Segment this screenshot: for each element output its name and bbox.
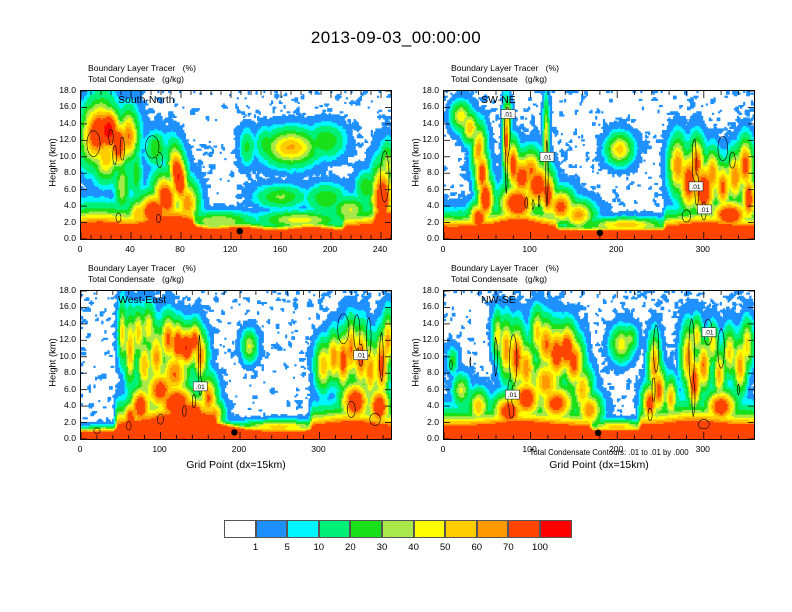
contour-label: .01 <box>702 328 716 337</box>
header-tracer-line: Boundary Layer Tracer (%) <box>451 263 559 274</box>
y-tick-label: 0.0 <box>47 233 76 243</box>
station-marker <box>237 228 243 234</box>
x-tick-label: 100 <box>139 444 179 454</box>
y-tick-label: 2.0 <box>410 417 439 427</box>
x-tick-label: 200 <box>596 244 636 254</box>
contour-label: .01 <box>193 382 207 391</box>
y-axis-title: Height (km) <box>47 113 58 213</box>
colorbar-swatch <box>540 520 572 538</box>
colorbar-swatch <box>414 520 446 538</box>
panel-label-nw-se: NW-SE <box>481 294 516 306</box>
y-tick-label: 2.0 <box>47 417 76 427</box>
header-condensate-line: Total Condensate (g/kg) <box>451 74 559 85</box>
plot-area-nw-se[interactable]: .01.01 <box>443 290 755 440</box>
colorbar-swatch <box>350 520 382 538</box>
contour-label: .01 <box>698 205 712 214</box>
station-marker <box>231 429 237 435</box>
x-tick-label: 300 <box>298 444 338 454</box>
y-tick-label: 16.0 <box>410 101 439 111</box>
colorbar: 1510203040506070100 <box>224 520 572 560</box>
contour-label: .01 <box>354 351 368 360</box>
y-tick-label: 18.0 <box>47 285 76 295</box>
x-tick-label: 0 <box>423 244 463 254</box>
y-tick-label: 0.0 <box>410 433 439 443</box>
x-axis-title: Grid Point (dx=15km) <box>80 459 392 471</box>
y-tick-label: 16.0 <box>410 301 439 311</box>
colorbar-swatch <box>508 520 540 538</box>
colorbar-swatch <box>319 520 351 538</box>
contour-field: .01.01 <box>444 291 754 439</box>
x-tick-label: 240 <box>360 244 400 254</box>
y-tick-label: 2.0 <box>47 217 76 227</box>
station-marker <box>595 430 601 436</box>
contour-label: .01 <box>689 182 703 191</box>
colorbar-tick-label: 100 <box>520 542 560 553</box>
plot-area-south-north[interactable] <box>80 90 392 240</box>
colorbar-swatch <box>287 520 319 538</box>
x-tick-label: 80 <box>160 244 200 254</box>
header-condensate-line: Total Condensate (g/kg) <box>88 274 196 285</box>
contour-field: .01.01 <box>81 291 391 439</box>
contour-field: .01.01.01.01 <box>444 91 754 239</box>
header-condensate-line: Total Condensate (g/kg) <box>88 74 196 85</box>
x-tick-label: 0 <box>60 244 100 254</box>
x-tick-label: 0 <box>60 444 100 454</box>
x-tick-label: 160 <box>260 244 300 254</box>
panel-header: Boundary Layer Tracer (%)Total Condensat… <box>451 63 559 84</box>
contour-label: .01 <box>540 152 554 161</box>
x-tick-label: 120 <box>210 244 250 254</box>
colorbar-swatch <box>224 520 256 538</box>
y-tick-label: 2.0 <box>410 217 439 227</box>
panel-label-south-north: South-North <box>118 94 175 106</box>
panel-header: Boundary Layer Tracer (%)Total Condensat… <box>451 263 559 284</box>
y-tick-label: 0.0 <box>47 433 76 443</box>
y-axis-title: Height (km) <box>47 313 58 413</box>
header-condensate-line: Total Condensate (g/kg) <box>451 274 559 285</box>
header-tracer-line: Boundary Layer Tracer (%) <box>451 63 559 74</box>
y-tick-label: 18.0 <box>47 85 76 95</box>
y-tick-label: 16.0 <box>47 301 76 311</box>
panel-label-sw-ne: SW-NE <box>481 94 516 106</box>
contour-note: Total Condensate Contours: .01 to .01 by… <box>453 448 765 457</box>
x-tick-label: 40 <box>110 244 150 254</box>
page-title: 2013-09-03_00:00:00 <box>0 28 792 48</box>
panel-header: Boundary Layer Tracer (%)Total Condensat… <box>88 263 196 284</box>
colorbar-swatch <box>477 520 509 538</box>
y-tick-label: 0.0 <box>410 233 439 243</box>
y-tick-label: 18.0 <box>410 285 439 295</box>
panel-label-west-east: West-East <box>118 294 166 306</box>
contour-label: .01 <box>505 390 519 399</box>
colorbar-swatch <box>256 520 288 538</box>
y-axis-title: Height (km) <box>410 113 421 213</box>
header-tracer-line: Boundary Layer Tracer (%) <box>88 63 196 74</box>
y-tick-label: 18.0 <box>410 85 439 95</box>
x-tick-label: 300 <box>683 244 723 254</box>
x-tick-label: 100 <box>510 244 550 254</box>
contour-label: .01 <box>501 110 515 119</box>
panel-header: Boundary Layer Tracer (%)Total Condensat… <box>88 63 196 84</box>
contour-field <box>81 91 391 239</box>
x-tick-label: 200 <box>310 244 350 254</box>
header-tracer-line: Boundary Layer Tracer (%) <box>88 263 196 274</box>
colorbar-swatch <box>382 520 414 538</box>
plot-area-west-east[interactable]: .01.01 <box>80 290 392 440</box>
x-tick-label: 200 <box>219 444 259 454</box>
x-axis-title: Grid Point (dx=15km) <box>443 459 755 471</box>
plot-area-sw-ne[interactable]: .01.01.01.01 <box>443 90 755 240</box>
colorbar-swatch <box>445 520 477 538</box>
y-axis-title: Height (km) <box>410 313 421 413</box>
y-tick-label: 16.0 <box>47 101 76 111</box>
